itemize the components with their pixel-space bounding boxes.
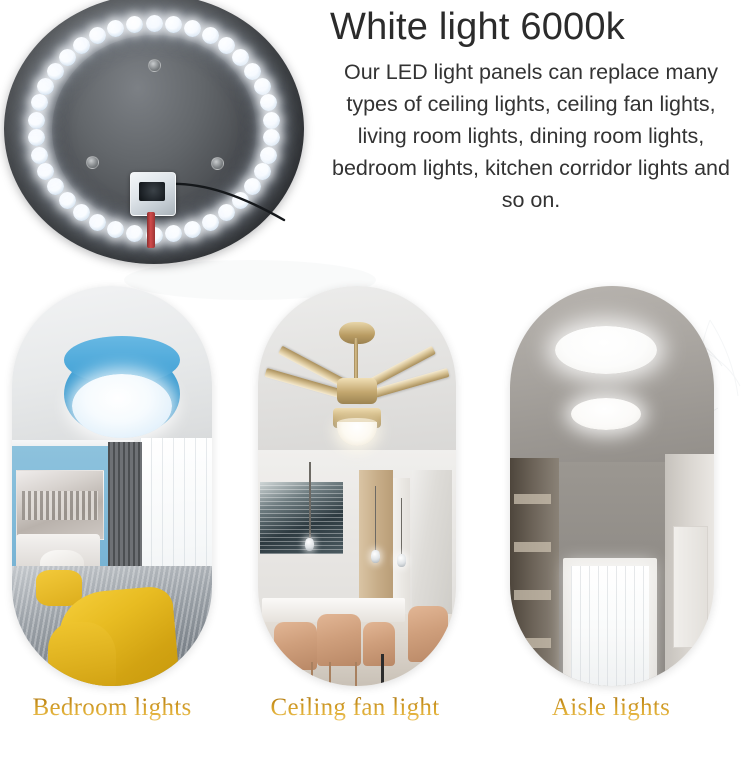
right-door-panel bbox=[673, 526, 708, 648]
gallery-item-aisle[interactable] bbox=[510, 286, 714, 686]
ceiling-surface bbox=[510, 286, 714, 466]
shelf-board bbox=[514, 638, 551, 648]
round-ceiling-light-small bbox=[571, 398, 640, 430]
led-diode bbox=[244, 63, 261, 80]
table-pedestal bbox=[381, 654, 384, 686]
gallery-caption-aisle: Aisle lights bbox=[500, 692, 722, 724]
led-diode bbox=[184, 20, 201, 37]
fan-downrod bbox=[354, 338, 358, 382]
led-diode bbox=[37, 78, 54, 95]
page-title: White light 6000k bbox=[330, 4, 736, 50]
bedroom-scene bbox=[12, 286, 212, 686]
pendant-bulb bbox=[371, 550, 380, 563]
led-diode bbox=[202, 27, 219, 44]
led-diode bbox=[73, 37, 90, 54]
chair-leg bbox=[329, 662, 331, 686]
chair-leg bbox=[311, 662, 313, 686]
led-diode bbox=[59, 192, 76, 209]
led-diode bbox=[107, 20, 124, 37]
led-diode bbox=[126, 225, 143, 242]
wall-artwork bbox=[260, 482, 343, 554]
dining-room-scene bbox=[258, 286, 456, 686]
gallery-caption-bedroom: Bedroom lights bbox=[0, 692, 224, 724]
round-ceiling-light-large bbox=[555, 326, 657, 374]
led-panel-photo bbox=[4, 0, 306, 266]
led-diode bbox=[263, 112, 280, 129]
page-description: Our LED light panels can replace many ty… bbox=[326, 56, 736, 216]
led-diode bbox=[31, 147, 48, 164]
pendant-bulb bbox=[305, 538, 314, 551]
mounting-screw-icon bbox=[211, 157, 224, 170]
chair-leg bbox=[355, 662, 357, 686]
left-shelving-wall bbox=[510, 458, 559, 686]
led-diode bbox=[31, 94, 48, 111]
led-diode bbox=[218, 37, 235, 54]
chair-leg bbox=[282, 662, 284, 686]
led-diode bbox=[254, 78, 271, 95]
led-diode bbox=[28, 112, 45, 129]
power-wire-icon bbox=[164, 180, 294, 226]
gallery-item-bedroom[interactable] bbox=[12, 286, 212, 686]
bright-doorway bbox=[571, 566, 649, 686]
led-diode bbox=[263, 129, 280, 146]
led-diode bbox=[260, 147, 277, 164]
led-diode bbox=[254, 163, 271, 180]
pendant-cord bbox=[375, 486, 377, 554]
led-diode bbox=[165, 16, 182, 33]
led-diode bbox=[107, 221, 124, 238]
shelf-board bbox=[514, 590, 551, 600]
dining-chair bbox=[363, 622, 395, 666]
mounting-screw-icon bbox=[148, 59, 161, 72]
led-driver-box bbox=[130, 172, 176, 216]
dining-chair bbox=[317, 614, 361, 666]
led-connector-stem bbox=[147, 212, 155, 248]
shelf-board bbox=[514, 494, 551, 504]
led-diode bbox=[89, 27, 106, 44]
shelf-board bbox=[514, 542, 551, 552]
gallery-caption-ceiling-fan: Ceiling fan light bbox=[250, 692, 460, 724]
led-diode bbox=[146, 15, 163, 32]
led-diode bbox=[232, 49, 249, 66]
wall-artwork bbox=[16, 470, 104, 540]
yellow-cushion bbox=[36, 570, 82, 606]
led-diode bbox=[59, 49, 76, 66]
led-diode bbox=[47, 63, 64, 80]
gallery-item-ceiling-fan[interactable] bbox=[258, 286, 456, 686]
hallway-scene bbox=[510, 286, 714, 686]
fan-motor-housing bbox=[337, 378, 377, 404]
led-diode bbox=[165, 225, 182, 242]
pendant-bulb bbox=[397, 554, 406, 567]
pendant-cord bbox=[309, 462, 311, 542]
pendant-cord bbox=[401, 498, 403, 558]
led-diode bbox=[73, 204, 90, 221]
led-diode bbox=[89, 214, 106, 231]
headline-block: White light 6000k Our LED light panels c… bbox=[326, 4, 736, 216]
yellow-throw-blanket-fold bbox=[48, 622, 116, 686]
mounting-screw-icon bbox=[86, 156, 99, 169]
led-diode bbox=[260, 94, 277, 111]
led-diode bbox=[28, 129, 45, 146]
ceiling-light-lens bbox=[72, 374, 172, 438]
mirror-panel bbox=[412, 470, 452, 614]
dining-chair bbox=[408, 606, 448, 662]
led-diode bbox=[126, 16, 143, 33]
product-info-banner: White light 6000k Our LED light panels c… bbox=[0, 0, 750, 775]
